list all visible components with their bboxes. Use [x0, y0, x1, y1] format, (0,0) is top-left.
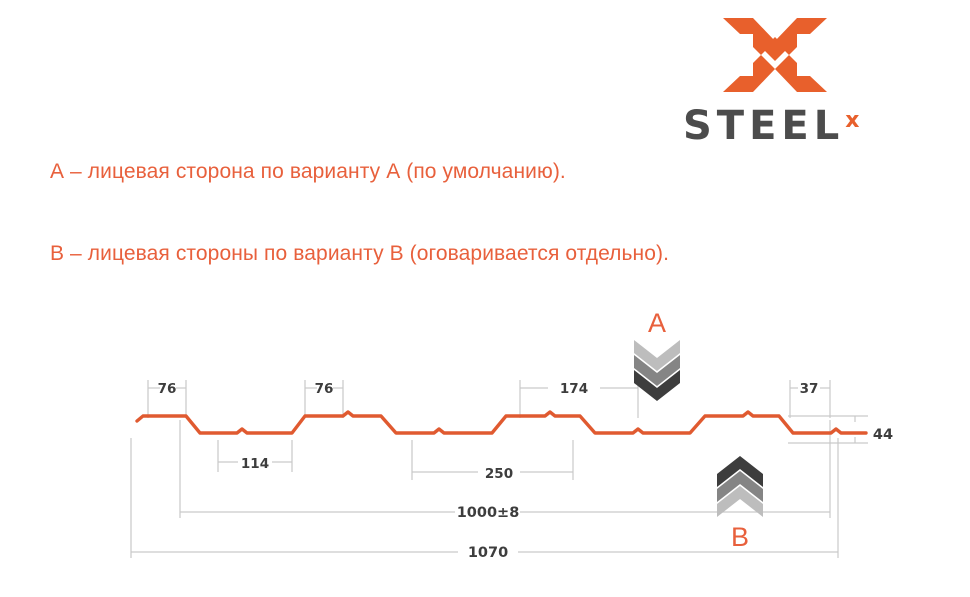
- steelx-x-mark-icon: [723, 18, 827, 92]
- dimension-label-76-second: 76: [315, 381, 334, 397]
- dimension-label-174: 174: [560, 381, 588, 397]
- dimension-label-37: 37: [800, 381, 819, 397]
- brand-logo: STEEL x: [683, 18, 923, 143]
- side-marker-a: A: [634, 308, 680, 401]
- marker-b-chevrons-up-icon: [717, 456, 763, 517]
- side-marker-b: B: [717, 456, 763, 552]
- profile-technical-drawing: 76 76 174 37 114 250 44 1000±8 1070 A B: [0, 290, 970, 580]
- caption-variant-a: А – лицевая сторона по варианту А (по ум…: [50, 160, 566, 184]
- wordmark-text: STEEL: [683, 106, 844, 146]
- marker-b-letter: B: [731, 522, 749, 552]
- marker-a-letter: A: [648, 308, 666, 338]
- dimension-label-total-width: 1070: [468, 545, 508, 561]
- wordmark-superscript: x: [845, 110, 859, 132]
- dimension-label-76-left: 76: [158, 381, 177, 397]
- sheet-profile-line: [137, 412, 866, 433]
- caption-variant-b: В – лицевая стороны по варианту В (огова…: [50, 242, 669, 266]
- dimension-label-44-height: 44: [873, 427, 893, 443]
- dimension-label-250: 250: [485, 466, 513, 482]
- dimension-label-114: 114: [241, 456, 269, 472]
- dimension-label-working-width: 1000±8: [457, 505, 520, 521]
- marker-a-chevrons-down-icon: [634, 340, 680, 401]
- profile-drawing-svg: 76 76 174 37 114 250 44 1000±8 1070 A B: [0, 290, 970, 580]
- brand-wordmark: STEEL x: [683, 104, 923, 146]
